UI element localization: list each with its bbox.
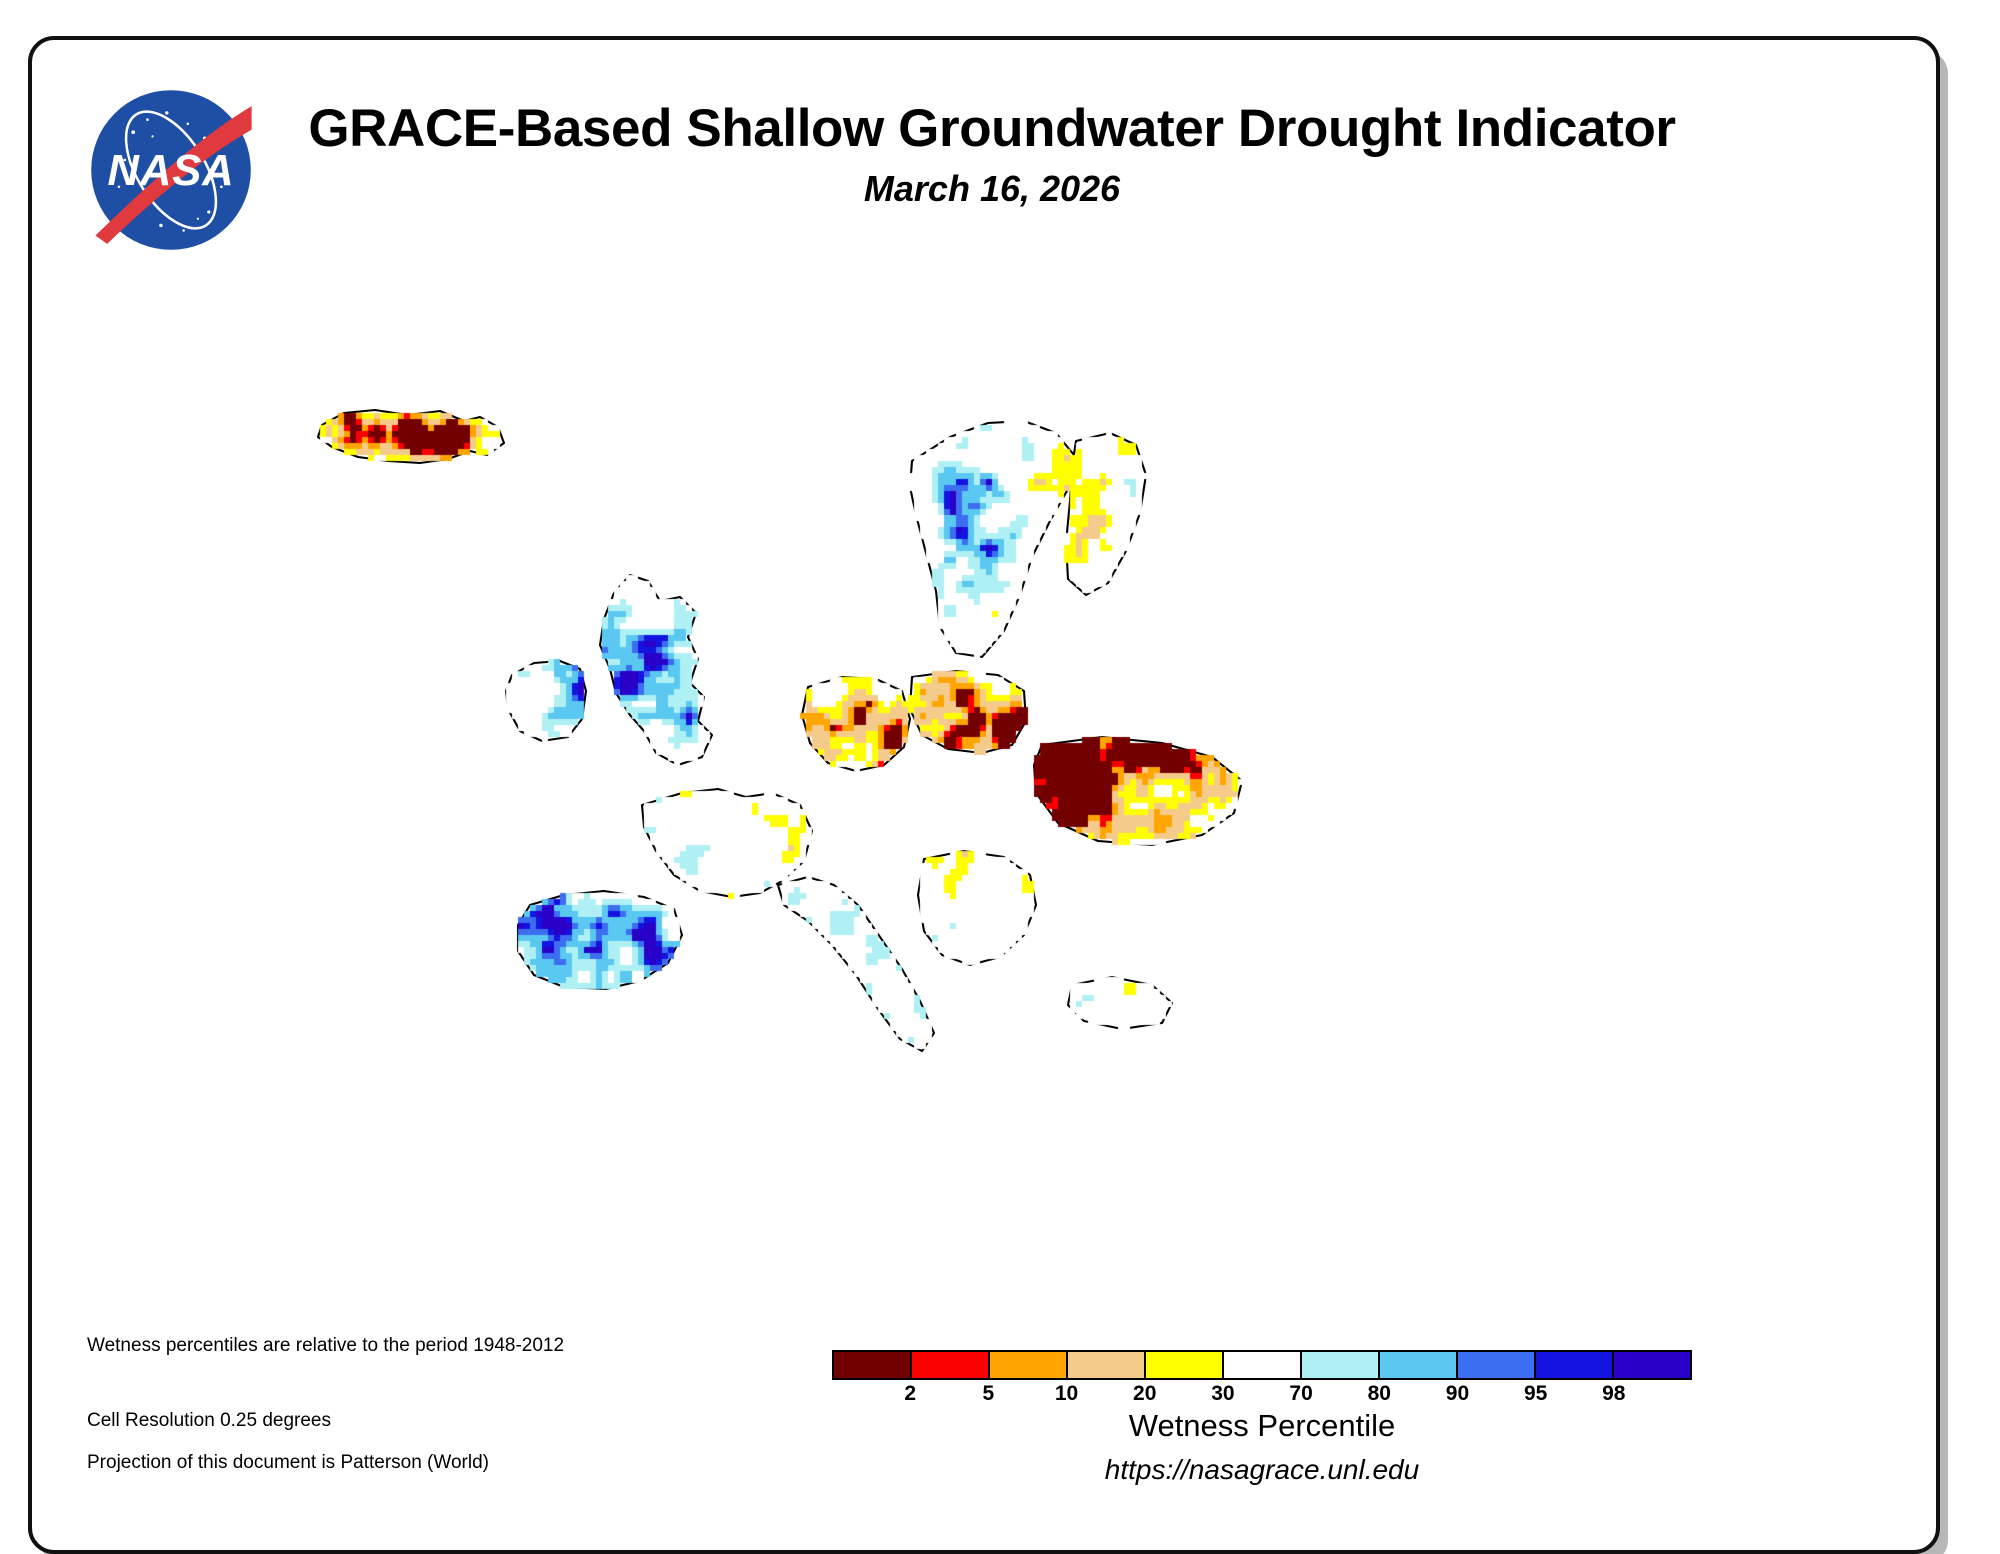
nasa-logo: NASA [87, 86, 255, 254]
page-title: GRACE-Based Shallow Groundwater Drought … [282, 98, 1702, 159]
legend-swatch [1222, 1352, 1300, 1378]
legend-swatch [1612, 1352, 1690, 1378]
legend-swatch [1144, 1352, 1222, 1378]
drought-grid-canvas [212, 245, 1772, 1245]
legend-swatch [1534, 1352, 1612, 1378]
legend-tick: 80 [1368, 1382, 1391, 1406]
legend-tick: 98 [1602, 1382, 1625, 1406]
legend-tick: 90 [1446, 1382, 1469, 1406]
legend-swatch [834, 1352, 910, 1378]
legend-title: Wetness Percentile [832, 1408, 1692, 1444]
legend-swatch [1300, 1352, 1378, 1378]
note-projection: Projection of this document is Patterson… [87, 1452, 489, 1474]
legend: 251020307080909598 Wetness Percentile ht… [832, 1350, 1892, 1486]
legend-url[interactable]: https://nasagrace.unl.edu [832, 1454, 1692, 1486]
poster-card: NASA GRACE-Based Shallow Groundwater Dro… [28, 36, 1940, 1554]
legend-swatch [1066, 1352, 1144, 1378]
legend-colorbar [832, 1350, 1692, 1380]
drought-map [212, 245, 1772, 1245]
legend-tick: 95 [1524, 1382, 1547, 1406]
legend-tick: 70 [1289, 1382, 1312, 1406]
legend-tick: 30 [1211, 1382, 1234, 1406]
svg-text:NASA: NASA [107, 146, 234, 195]
note-resolution: Cell Resolution 0.25 degrees [87, 1410, 331, 1432]
legend-swatch [910, 1352, 988, 1378]
legend-swatch [1378, 1352, 1456, 1378]
legend-tick: 5 [983, 1382, 995, 1406]
legend-swatch [1456, 1352, 1534, 1378]
legend-swatch [988, 1352, 1066, 1378]
legend-tick: 20 [1133, 1382, 1156, 1406]
legend-tick-labels: 251020307080909598 [832, 1380, 1692, 1406]
legend-tick: 10 [1055, 1382, 1078, 1406]
legend-tick: 2 [904, 1382, 916, 1406]
note-baseline: Wetness percentiles are relative to the … [87, 1335, 564, 1357]
map-date: March 16, 2026 [282, 168, 1702, 210]
